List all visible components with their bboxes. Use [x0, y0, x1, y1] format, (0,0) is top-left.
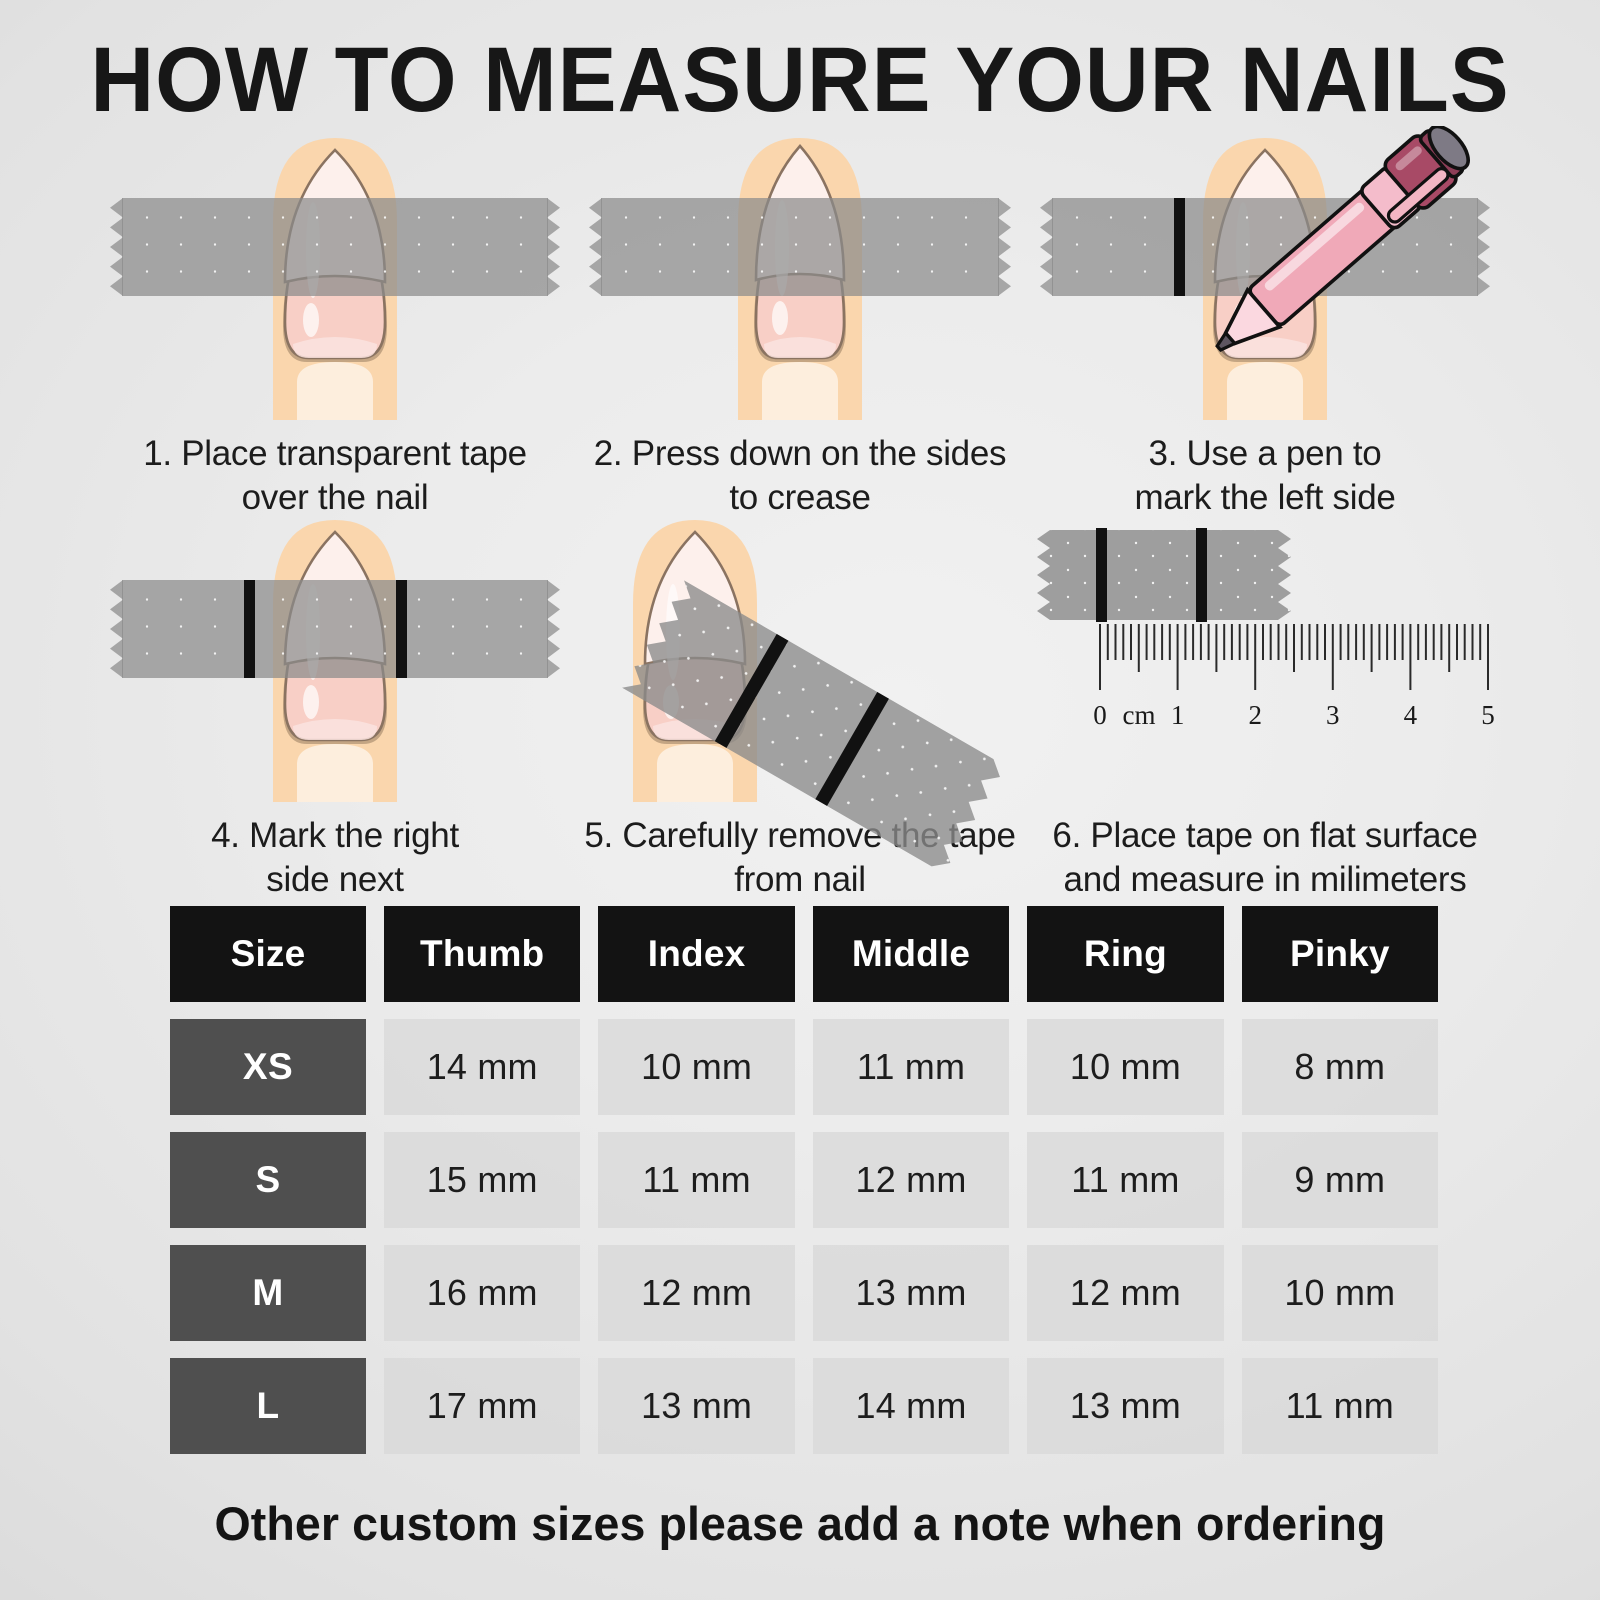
- table-row: S 15 mm 11 mm 12 mm 11 mm 9 mm: [170, 1132, 1438, 1228]
- step-4-caption: 4. Mark the right side next: [100, 814, 570, 902]
- ruler-tick-2: 2: [1248, 700, 1262, 730]
- tape-texture: [601, 198, 999, 296]
- table-row: XS 14 mm 10 mm 11 mm 10 mm 8 mm: [170, 1019, 1438, 1115]
- step-6-caption: 6. Place tape on flat surface and measur…: [1030, 814, 1500, 902]
- tape-texture: [122, 580, 548, 678]
- table-row: L 17 mm 13 mm 14 mm 13 mm 11 mm: [170, 1358, 1438, 1454]
- step-4-illustration: [100, 512, 570, 802]
- step-5-line2: from nail: [565, 858, 1035, 902]
- cell-index: 11 mm: [598, 1132, 794, 1228]
- step-1-caption: 1. Place transparent tape over the nail: [100, 432, 570, 520]
- tape-zigzag-left-icon: [110, 580, 123, 678]
- cell-pinky: 9 mm: [1242, 1132, 1438, 1228]
- tape-band: [122, 198, 548, 296]
- cell-pinky: 10 mm: [1242, 1245, 1438, 1341]
- ruler-tick-0: 0: [1093, 700, 1107, 730]
- step-3-illustration: [1030, 130, 1500, 420]
- nail-mark-left: [244, 580, 255, 678]
- step-6: 0 cm 1 2 3 4 5 6. Place tape on flat sur…: [1030, 512, 1500, 902]
- size-label: S: [170, 1132, 366, 1228]
- step-3-line1: 3. Use a pen to: [1030, 432, 1500, 476]
- step-6-line1: 6. Place tape on flat surface: [1030, 814, 1500, 858]
- step-4: 4. Mark the right side next: [100, 512, 570, 902]
- tape-band: [1037, 528, 1291, 622]
- step-3: 3. Use a pen to mark the left side: [1030, 130, 1500, 520]
- tape-zigzag-right-icon: [547, 198, 560, 296]
- step-4-line2: side next: [100, 858, 570, 902]
- cell-middle: 11 mm: [813, 1019, 1009, 1115]
- table-header-pinky: Pinky: [1242, 906, 1438, 1002]
- cell-pinky: 8 mm: [1242, 1019, 1438, 1115]
- cell-index: 12 mm: [598, 1245, 794, 1341]
- table-header-size: Size: [170, 906, 366, 1002]
- step-4-line1: 4. Mark the right: [100, 814, 570, 858]
- cell-middle: 14 mm: [813, 1358, 1009, 1454]
- table-header-row: Size Thumb Index Middle Ring Pinky: [170, 906, 1438, 1002]
- cell-middle: 12 mm: [813, 1132, 1009, 1228]
- cell-thumb: 17 mm: [384, 1358, 580, 1454]
- size-label: M: [170, 1245, 366, 1341]
- size-chart-table: Size Thumb Index Middle Ring Pinky XS 14…: [170, 906, 1438, 1471]
- ruler-tick-5: 5: [1481, 700, 1495, 730]
- ruler-with-tape: 0 cm 1 2 3 4 5: [1030, 512, 1500, 802]
- step-3-caption: 3. Use a pen to mark the left side: [1030, 432, 1500, 520]
- table-header-index: Index: [598, 906, 794, 1002]
- ruler-unit-label: cm: [1123, 700, 1156, 730]
- step-2: 2. Press down on the sides to crease: [565, 130, 1035, 520]
- table-header-middle: Middle: [813, 906, 1009, 1002]
- ruler-tick-3: 3: [1326, 700, 1340, 730]
- cell-ring: 10 mm: [1027, 1019, 1223, 1115]
- tape-zigzag-right-icon: [998, 198, 1011, 296]
- step-6-line2: and measure in milimeters: [1030, 858, 1500, 902]
- ruler-tick-4: 4: [1404, 700, 1418, 730]
- step-1-line1: 1. Place transparent tape: [100, 432, 570, 476]
- step-1-illustration: [100, 130, 570, 420]
- tape-zigzag-right-icon: [547, 580, 560, 678]
- size-label: L: [170, 1358, 366, 1454]
- ruler-labels: 0 cm 1 2 3 4 5: [1093, 700, 1495, 730]
- tape-band: [122, 580, 548, 678]
- cell-index: 10 mm: [598, 1019, 794, 1115]
- cell-ring: 11 mm: [1027, 1132, 1223, 1228]
- step-2-illustration: [565, 130, 1035, 420]
- cell-middle: 13 mm: [813, 1245, 1009, 1341]
- pen-icon: [1180, 126, 1500, 361]
- tape-zigzag-left-icon: [1040, 198, 1053, 296]
- table-row: M 16 mm 12 mm 13 mm 12 mm 10 mm: [170, 1245, 1438, 1341]
- tape-texture: [122, 198, 548, 296]
- tape-band: [601, 198, 999, 296]
- step-2-caption: 2. Press down on the sides to crease: [565, 432, 1035, 520]
- cell-thumb: 14 mm: [384, 1019, 580, 1115]
- cell-ring: 12 mm: [1027, 1245, 1223, 1341]
- step-5: 5. Carefully remove the tape from nail: [565, 512, 1035, 902]
- footer-note: Other custom sizes please add a note whe…: [8, 1496, 1592, 1551]
- cell-index: 13 mm: [598, 1358, 794, 1454]
- infographic-root: HOW TO MEASURE YOUR NAILS: [0, 0, 1600, 1600]
- table-header-thumb: Thumb: [384, 906, 580, 1002]
- nail-mark-right: [396, 580, 407, 678]
- step-2-line1: 2. Press down on the sides: [565, 432, 1035, 476]
- table-header-ring: Ring: [1027, 906, 1223, 1002]
- ruler-ticks: [1100, 624, 1488, 690]
- step-6-illustration: 0 cm 1 2 3 4 5: [1030, 512, 1500, 802]
- ruler-tick-1: 1: [1171, 700, 1185, 730]
- step-1: 1. Place transparent tape over the nail: [100, 130, 570, 520]
- cell-pinky: 11 mm: [1242, 1358, 1438, 1454]
- cell-thumb: 16 mm: [384, 1245, 580, 1341]
- size-label: XS: [170, 1019, 366, 1115]
- page-title: HOW TO MEASURE YOUR NAILS: [32, 28, 1568, 133]
- tape-zigzag-left-icon: [110, 198, 123, 296]
- cell-ring: 13 mm: [1027, 1358, 1223, 1454]
- tape-zigzag-left-icon: [589, 198, 602, 296]
- cell-thumb: 15 mm: [384, 1132, 580, 1228]
- step-5-illustration: [565, 512, 1035, 802]
